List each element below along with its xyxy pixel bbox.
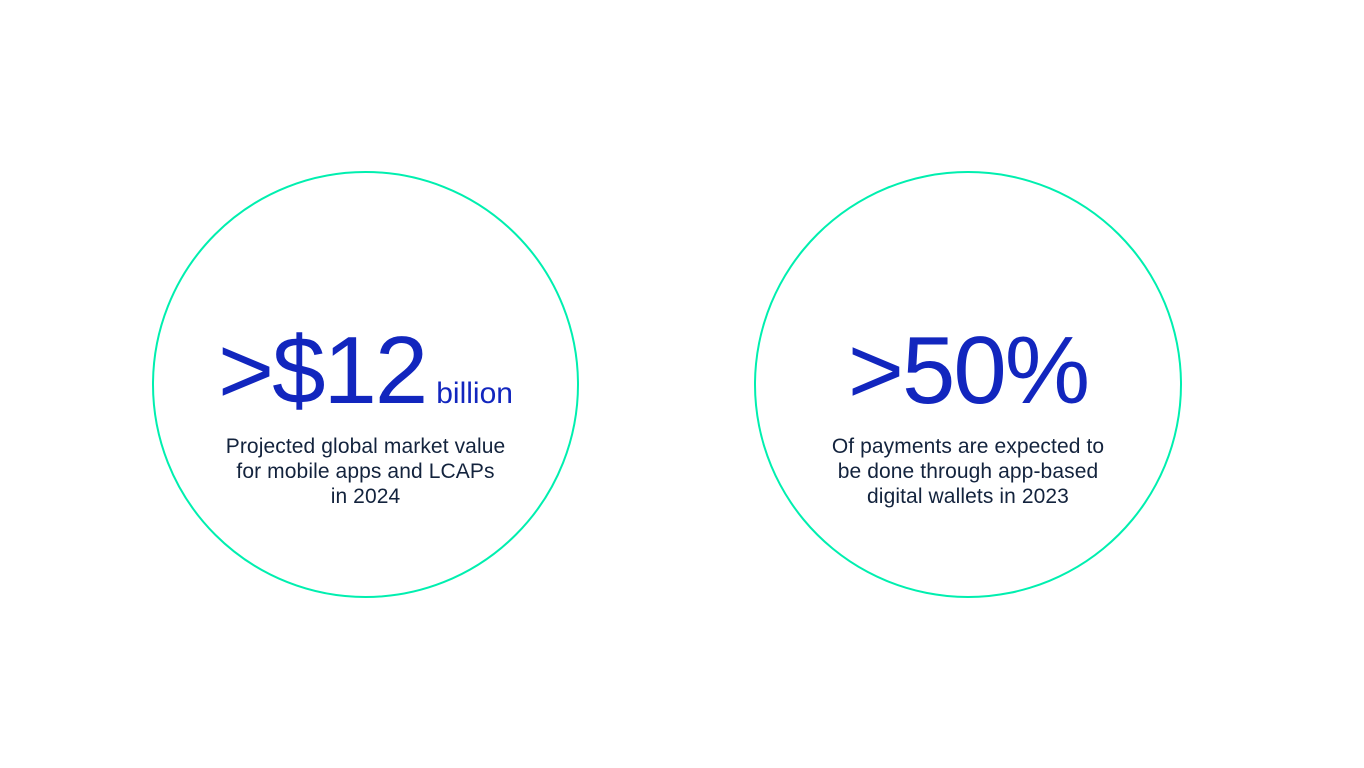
caption-line: in 2024 [182,484,549,509]
stat-value-digital-wallets: >50% [848,323,1088,419]
caption-line: digital wallets in 2023 [784,484,1152,509]
caption-line: Projected global market value [182,434,549,459]
stat-circle-market-value: >$12 billion Projected global market val… [152,171,579,598]
caption-line: for mobile apps and LCAPs [182,459,549,484]
caption-line: be done through app-based [784,459,1152,484]
stat-circle-digital-wallets: >50% Of payments are expected to be done… [754,171,1182,598]
caption-line: Of payments are expected to [784,434,1152,459]
stat-caption-digital-wallets: Of payments are expected to be done thro… [784,434,1152,509]
stat-value-market-value: >$12 [218,323,426,419]
stat-value-row: >$12 billion [154,323,577,419]
stat-value-row: >50% [756,323,1180,419]
stat-caption-market-value: Projected global market value for mobile… [182,434,549,509]
infographic-canvas: >$12 billion Projected global market val… [0,0,1364,768]
stat-unit-market-value: billion [436,379,513,409]
